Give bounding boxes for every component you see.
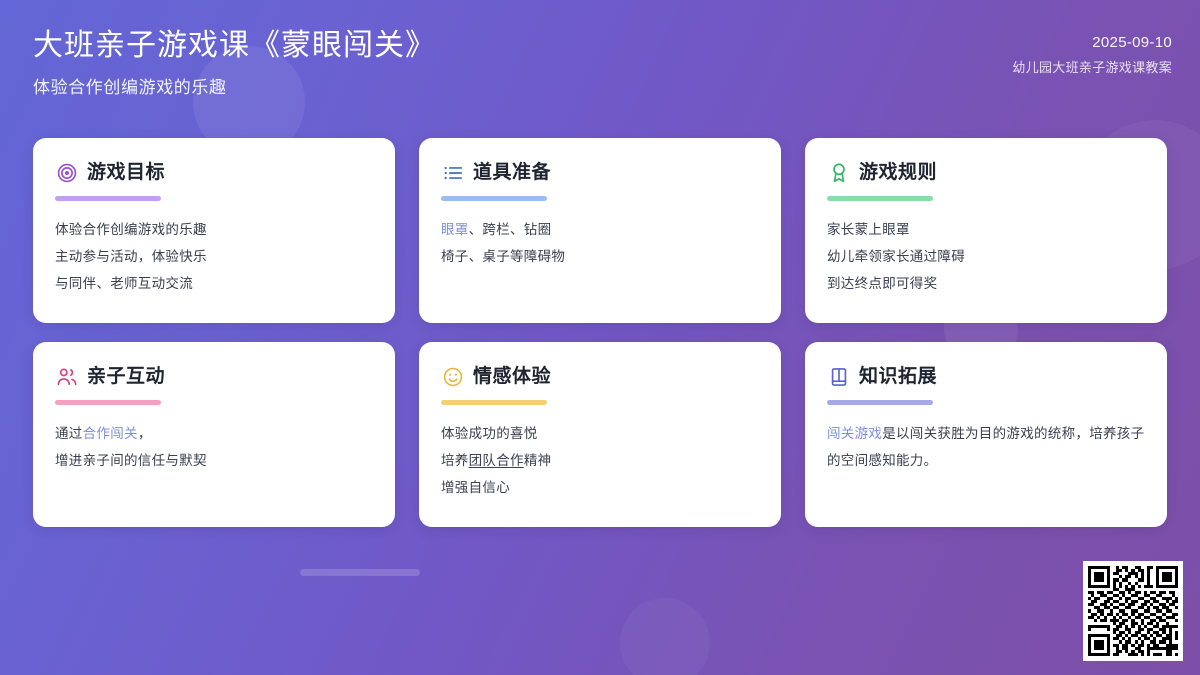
card-header: 游戏目标 (55, 159, 373, 187)
decor-circle-bottom (620, 598, 710, 675)
card-4: 亲子互动通过合作闯关，增进亲子间的信任与默契 (33, 342, 395, 527)
users-icon (55, 366, 78, 389)
card-line: 增进亲子间的信任与默契 (55, 447, 373, 474)
card-2: 道具准备眼罩、跨栏、钻圈椅子、桌子等障碍物 (419, 138, 781, 323)
text-segment: 到达终点即可得奖 (827, 276, 937, 291)
card-title: 游戏规则 (859, 161, 937, 185)
header-date: 2025-09-10 (1012, 32, 1172, 54)
award-icon (827, 162, 850, 185)
text-segment: 团队合作 (469, 453, 524, 468)
card-body: 体验成功的喜悦培养团队合作精神增强自信心 (441, 420, 759, 501)
page-header: 大班亲子游戏课《蒙眼闯关》 体验合作创编游戏的乐趣 2025-09-10 幼儿园… (0, 0, 1200, 120)
text-segment: ， (138, 426, 152, 441)
text-segment: 精神 (524, 453, 552, 468)
card-line: 主动参与活动，体验快乐 (55, 243, 373, 270)
page-subtitle: 体验合作创编游戏的乐趣 (33, 75, 436, 101)
text-segment: 体验合作创编游戏的乐趣 (55, 222, 207, 237)
card-line: 体验合作创编游戏的乐趣 (55, 216, 373, 243)
text-segment: 体验成功的喜悦 (441, 426, 538, 441)
text-segment: 培养 (441, 453, 469, 468)
header-left: 大班亲子游戏课《蒙眼闯关》 体验合作创编游戏的乐趣 (33, 26, 436, 101)
text-segment: 、跨栏、钻圈 (469, 222, 552, 237)
text-segment: 主动参与活动，体验快乐 (55, 249, 207, 264)
text-segment: 家长蒙上眼罩 (827, 222, 910, 237)
header-meta: 幼儿园大班亲子游戏课教案 (1012, 57, 1172, 79)
card-header: 游戏规则 (827, 159, 1145, 187)
text-segment: 幼儿牵领家长通过障碍 (827, 249, 965, 264)
card-title: 游戏目标 (87, 161, 165, 185)
target-icon (55, 162, 78, 185)
text-segment: 增进亲子间的信任与默契 (55, 453, 207, 468)
card-body: 家长蒙上眼罩幼儿牵领家长通过障碍到达终点即可得奖 (827, 216, 1145, 297)
card-line: 通过合作闯关， (55, 420, 373, 447)
card-6: 知识拓展闯关游戏是以闯关获胜为目的游戏的统称，培养孩子的空间感知能力。 (805, 342, 1167, 527)
card-line: 与同伴、老师互动交流 (55, 270, 373, 297)
decor-bar (300, 569, 420, 576)
text-segment: 与同伴、老师互动交流 (55, 276, 193, 291)
text-segment: 通过 (55, 426, 83, 441)
card-line: 培养团队合作精神 (441, 447, 759, 474)
card-body: 通过合作闯关，增进亲子间的信任与默契 (55, 420, 373, 474)
card-title: 情感体验 (473, 365, 551, 389)
card-title: 亲子互动 (87, 365, 165, 389)
card-header: 情感体验 (441, 363, 759, 391)
card-line: 幼儿牵领家长通过障碍 (827, 243, 1145, 270)
card-line: 椅子、桌子等障碍物 (441, 243, 759, 270)
card-line: 闯关游戏是以闯关获胜为目的游戏的统称，培养孩子的空间感知能力。 (827, 420, 1145, 474)
page-title: 大班亲子游戏课《蒙眼闯关》 (33, 26, 436, 66)
card-header: 道具准备 (441, 159, 759, 187)
card-accent-rule (55, 400, 161, 405)
card-body: 体验合作创编游戏的乐趣主动参与活动，体验快乐与同伴、老师互动交流 (55, 216, 373, 297)
card-line: 增强自信心 (441, 474, 759, 501)
card-line: 到达终点即可得奖 (827, 270, 1145, 297)
text-segment: 增强自信心 (441, 480, 510, 495)
card-line: 眼罩、跨栏、钻圈 (441, 216, 759, 243)
qr-code[interactable] (1083, 561, 1183, 661)
card-line: 家长蒙上眼罩 (827, 216, 1145, 243)
text-segment: 合作闯关 (83, 426, 138, 441)
card-accent-rule (441, 400, 547, 405)
text-segment: 椅子、桌子等障碍物 (441, 249, 565, 264)
card-body: 眼罩、跨栏、钻圈椅子、桌子等障碍物 (441, 216, 759, 270)
card-accent-rule (441, 196, 547, 201)
card-grid: 游戏目标体验合作创编游戏的乐趣主动参与活动，体验快乐与同伴、老师互动交流道具准备… (33, 138, 1167, 527)
card-1: 游戏目标体验合作创编游戏的乐趣主动参与活动，体验快乐与同伴、老师互动交流 (33, 138, 395, 323)
card-accent-rule (827, 196, 933, 201)
card-accent-rule (827, 400, 933, 405)
card-5: 情感体验体验成功的喜悦培养团队合作精神增强自信心 (419, 342, 781, 527)
card-header: 亲子互动 (55, 363, 373, 391)
text-segment: 眼罩 (441, 222, 469, 237)
book-icon (827, 366, 850, 389)
smiley-icon (441, 366, 464, 389)
card-accent-rule (55, 196, 161, 201)
header-right: 2025-09-10 幼儿园大班亲子游戏课教案 (1012, 32, 1172, 79)
card-header: 知识拓展 (827, 363, 1145, 391)
card-3: 游戏规则家长蒙上眼罩幼儿牵领家长通过障碍到达终点即可得奖 (805, 138, 1167, 323)
card-body: 闯关游戏是以闯关获胜为目的游戏的统称，培养孩子的空间感知能力。 (827, 420, 1145, 474)
card-title: 道具准备 (473, 161, 551, 185)
qr-modules (1088, 566, 1178, 656)
card-title: 知识拓展 (859, 365, 937, 389)
list-icon (441, 162, 464, 185)
text-segment: 闯关游戏 (827, 426, 882, 441)
card-line: 体验成功的喜悦 (441, 420, 759, 447)
